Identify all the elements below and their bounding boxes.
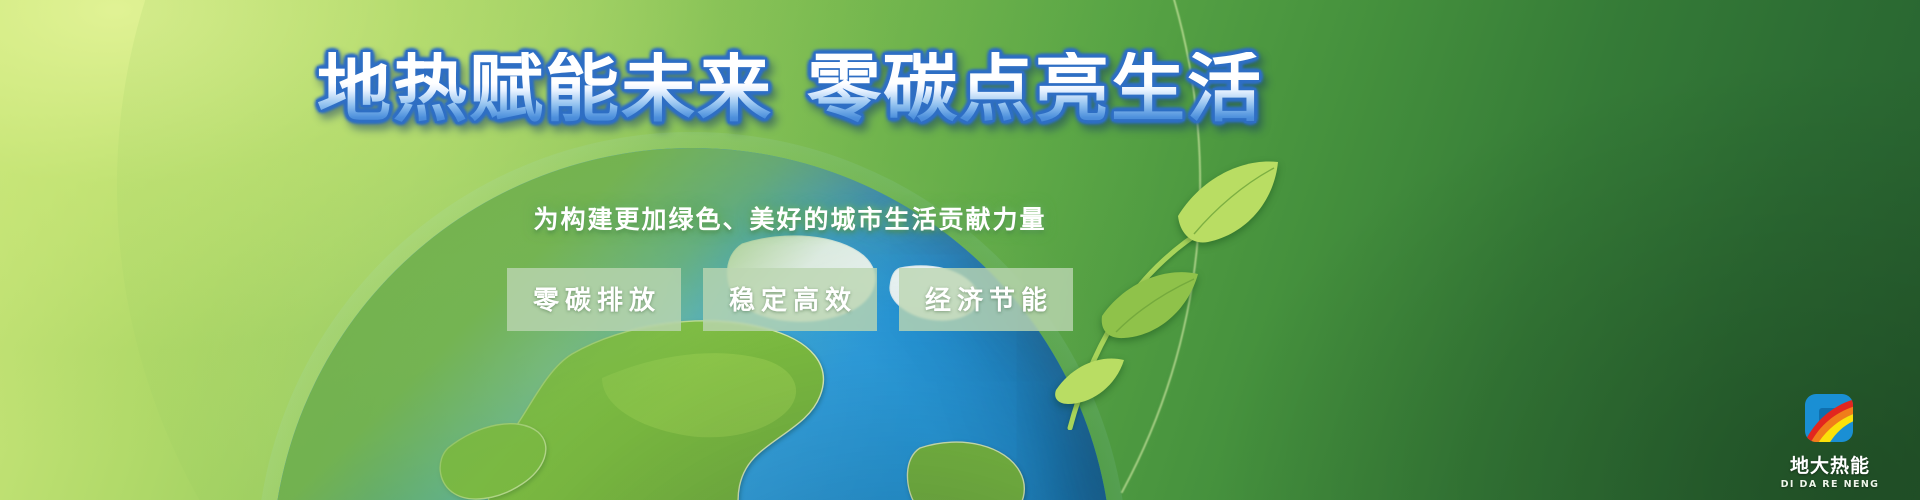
- feature-pill-group: 零碳排放 稳定高效 经济节能: [0, 268, 1580, 331]
- brand-logo[interactable]: 地大热能 DI DA RE NENG: [1772, 392, 1888, 490]
- promo-banner: 地热赋能未来零碳点亮生活 为构建更加绿色、美好的城市生活贡献力量 零碳排放 稳定…: [0, 0, 1920, 500]
- headline-part-1: 地热赋能未来: [317, 46, 773, 132]
- sprout-small-leaf: [1055, 358, 1124, 404]
- feature-pill-economical[interactable]: 经济节能: [899, 268, 1073, 331]
- headline-part-2: 零碳点亮生活: [807, 46, 1263, 132]
- logo-name-cn: 地大热能: [1772, 451, 1888, 478]
- didareneng-logo-icon: [1797, 392, 1863, 448]
- logo-name-pinyin: DI DA RE NENG: [1772, 479, 1888, 490]
- feature-pill-zero-carbon[interactable]: 零碳排放: [507, 268, 681, 331]
- feature-pill-stable-efficient[interactable]: 稳定高效: [703, 268, 877, 331]
- banner-subtitle: 为构建更加绿色、美好的城市生活贡献力量: [0, 200, 1580, 236]
- page-title: 地热赋能未来零碳点亮生活: [0, 52, 1580, 126]
